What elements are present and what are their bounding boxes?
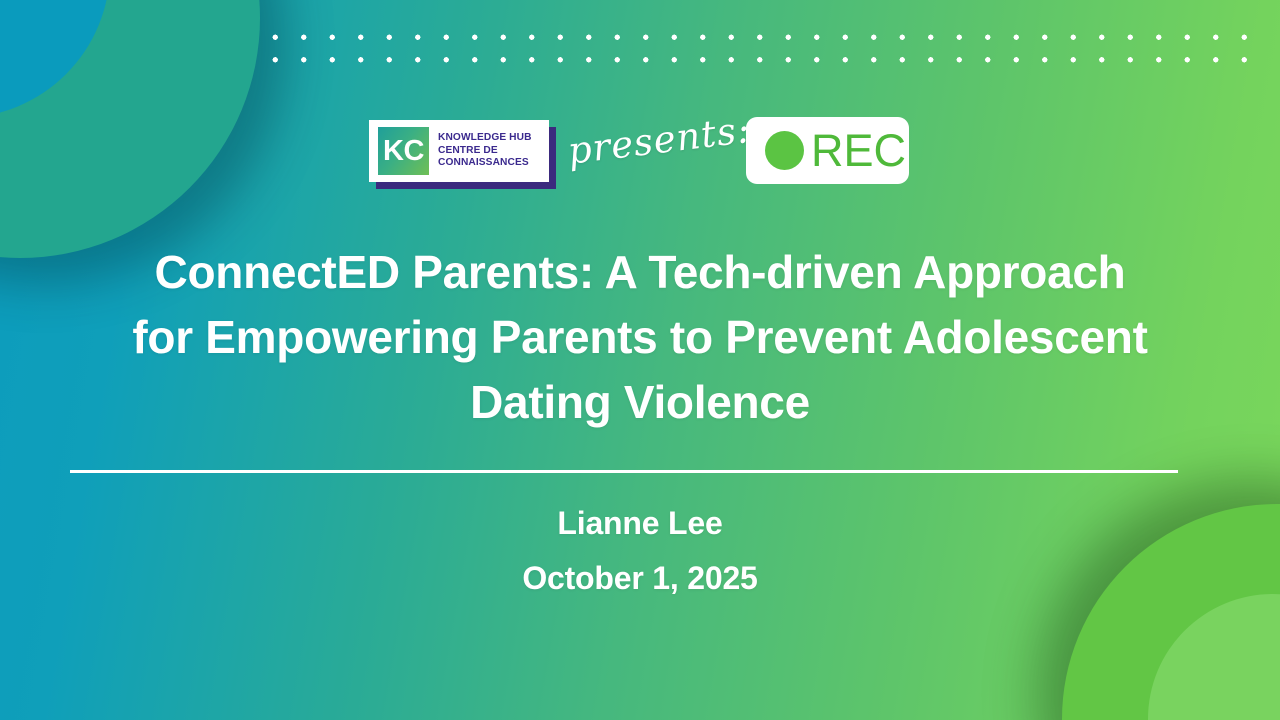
slide-title-line-3: Dating Violence: [64, 370, 1216, 435]
slide-title: ConnectED Parents: A Tech-driven Approac…: [64, 240, 1216, 435]
slide-footer: Lianne Lee October 1, 2025: [64, 496, 1216, 606]
knowledge-hub-logo-line-3: CONNAISSANCES: [438, 157, 532, 170]
presentation-title-slide: KC KNOWLEDGE HUB CENTRE DE CONNAISSANCES…: [0, 0, 1280, 720]
rec-logo-wordmark: REC: [811, 128, 906, 173]
presents-script-label: presents:: [565, 108, 752, 173]
knowledge-hub-logo-box: KC KNOWLEDGE HUB CENTRE DE CONNAISSANCES: [369, 120, 549, 182]
kc-monogram-badge: KC: [378, 127, 429, 175]
knowledge-hub-logo-line-1: KNOWLEDGE HUB: [438, 132, 532, 145]
knowledge-hub-logo-line-2: CENTRE DE: [438, 145, 532, 158]
record-circle-icon: [765, 131, 804, 170]
presenter-name: Lianne Lee: [64, 496, 1216, 551]
title-divider-rule: [70, 470, 1178, 473]
bottom-right-light-green-circle-decoration: [1148, 594, 1280, 720]
slide-title-line-1: ConnectED Parents: A Tech-driven Approac…: [64, 240, 1216, 305]
logo-row: KC KNOWLEDGE HUB CENTRE DE CONNAISSANCES…: [0, 112, 1280, 194]
dot-grid-pattern-decoration: [261, 26, 1259, 74]
presentation-date: October 1, 2025: [64, 551, 1216, 606]
knowledge-hub-logo: KC KNOWLEDGE HUB CENTRE DE CONNAISSANCES: [369, 120, 549, 182]
slide-title-line-2: for Empowering Parents to Prevent Adoles…: [64, 305, 1216, 370]
knowledge-hub-logo-wordmark: KNOWLEDGE HUB CENTRE DE CONNAISSANCES: [438, 132, 532, 170]
kc-monogram-text: KC: [383, 137, 424, 166]
top-left-blue-circle-decoration: [0, 0, 110, 118]
rec-logo: REC: [746, 117, 909, 184]
